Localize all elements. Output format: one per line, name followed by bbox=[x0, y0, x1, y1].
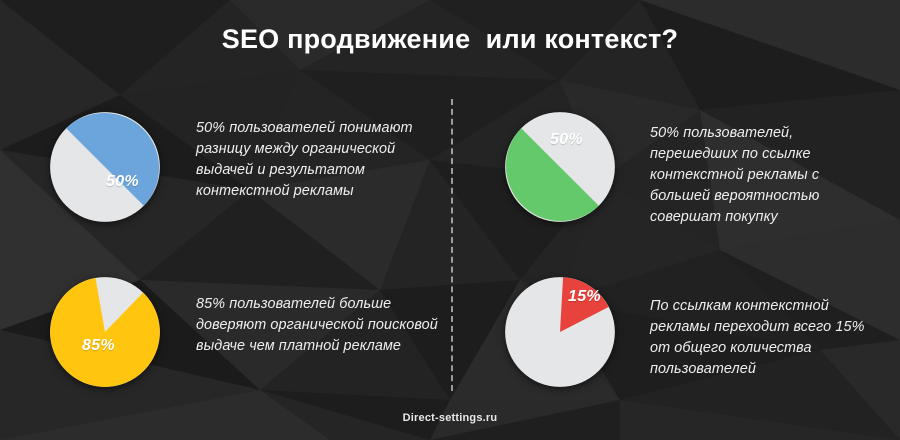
vertical-dashed-divider bbox=[451, 99, 453, 391]
pie-chart-green bbox=[504, 111, 616, 223]
pie-chart-red bbox=[504, 276, 616, 388]
stat-caption-green: 50% пользователей, перешедших по ссылке … bbox=[650, 123, 882, 228]
stat-caption-red: По ссылкам контекстной рекламы переходит… bbox=[650, 296, 884, 380]
pie-chart-yellow bbox=[49, 276, 161, 388]
stat-caption-yellow: 85% пользователей больше доверяют органи… bbox=[196, 294, 442, 357]
pie-chart-blue bbox=[49, 111, 161, 223]
stat-caption-blue: 50% пользователей понимают разницу между… bbox=[196, 118, 442, 202]
page-title: SEO продвижение или контекст? bbox=[0, 24, 900, 55]
infographic-canvas: SEO продвижение или контекст? 50% 50% по… bbox=[0, 0, 900, 440]
footer-watermark: Direct-settings.ru bbox=[0, 412, 900, 424]
